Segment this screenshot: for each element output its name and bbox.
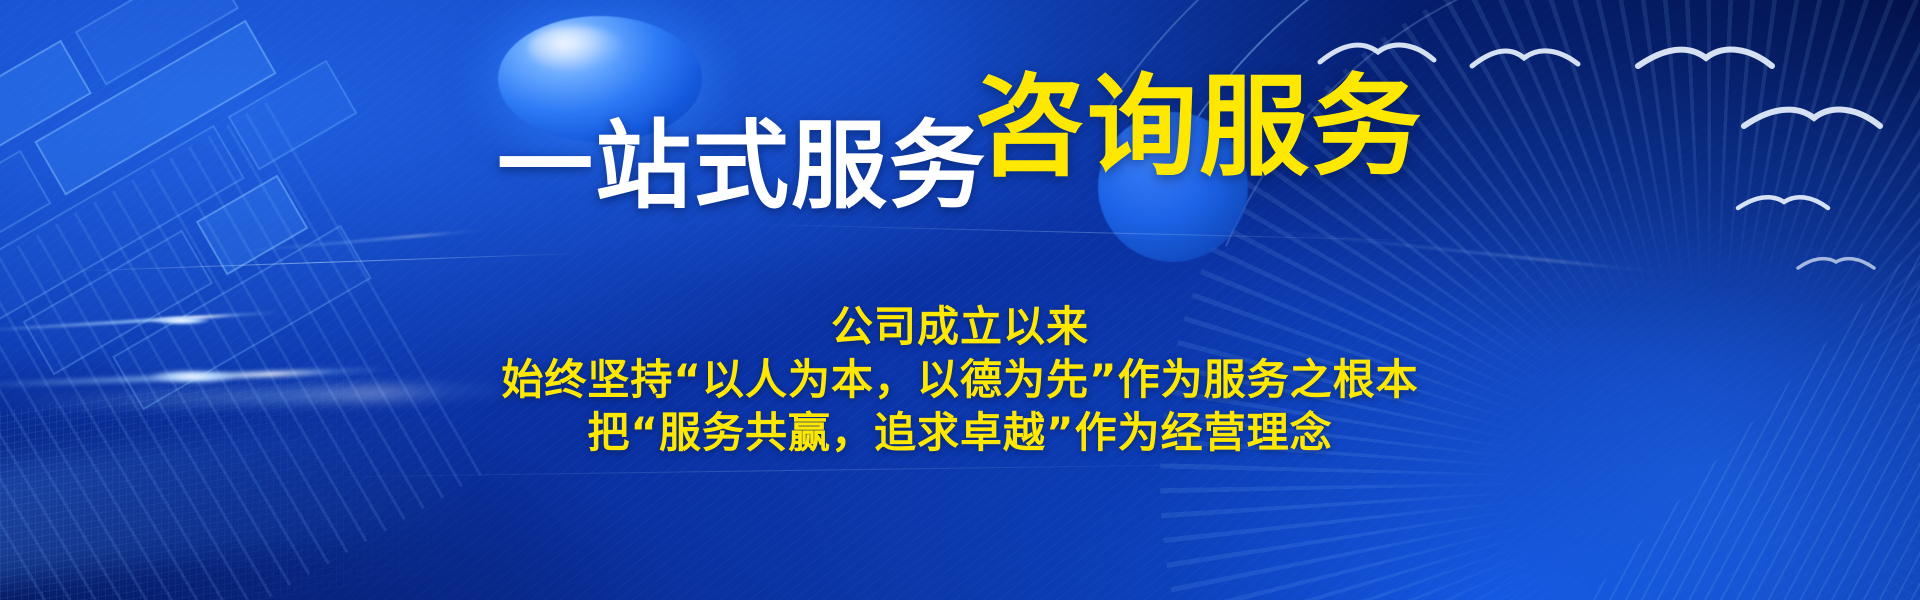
body-line-1: 公司成立以来 (0, 300, 1920, 353)
body-text-block: 公司成立以来 始终坚持“以人为本，以德为先”作为服务之根本 把“服务共赢，追求卓… (0, 300, 1920, 459)
body-line-2: 始终坚持“以人为本，以德为先”作为服务之根本 (0, 353, 1920, 406)
promotional-banner: 一站式服务咨询服务 公司成立以来 始终坚持“以人为本，以德为先”作为服务之根本 … (0, 0, 1920, 600)
headline: 一站式服务咨询服务 (0, 72, 1920, 182)
headline-accent: 咨询服务 (975, 63, 1423, 191)
headline-primary: 一站式服务 (497, 110, 987, 222)
orb-highlight (528, 26, 624, 70)
body-line-3: 把“服务共赢，追求卓越”作为经营理念 (0, 406, 1920, 459)
